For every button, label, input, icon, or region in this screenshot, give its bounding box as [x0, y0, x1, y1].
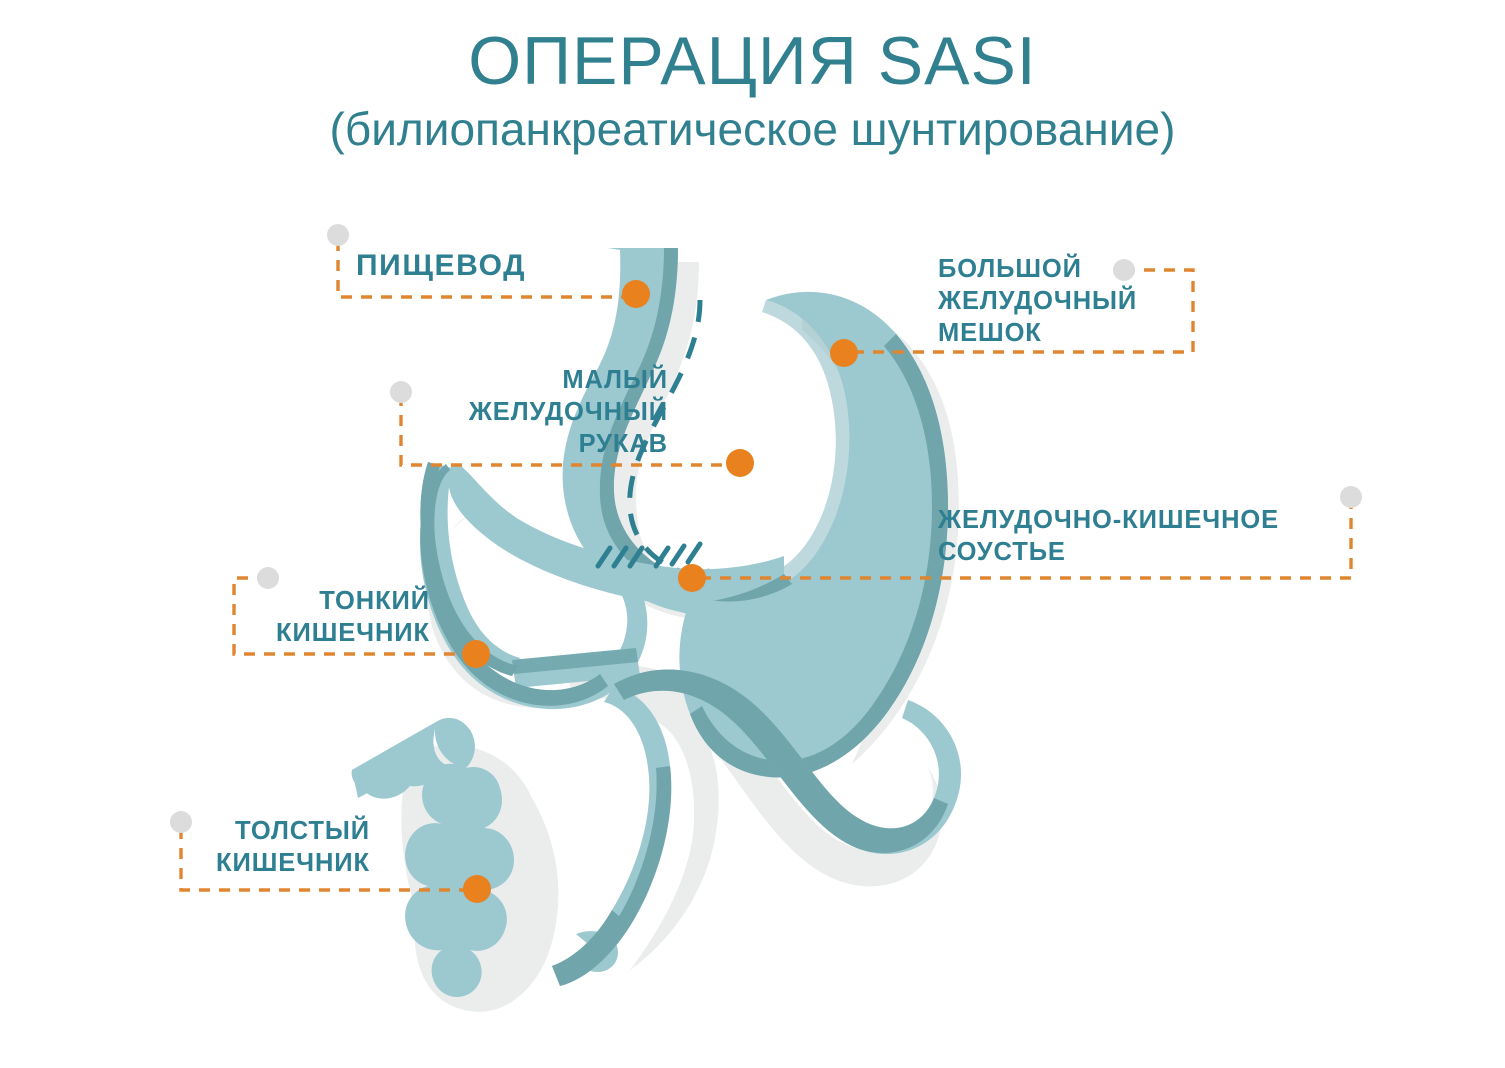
- label-small-intestine: ТОНКИЙ КИШЕЧНИК: [252, 585, 430, 649]
- orange-dot-big-pouch: [830, 339, 858, 367]
- gray-dot-esophagus: [327, 224, 349, 246]
- infographic-page: ОПЕРАЦИЯ SASI (билиопанкреатическое шунт…: [0, 0, 1505, 1068]
- orange-dot-large-bowel: [463, 875, 491, 903]
- label-esophagus: ПИЩЕВОД: [356, 247, 526, 285]
- label-large-intestine: ТОЛСТЫЙ КИШЕЧНИК: [192, 815, 370, 879]
- label-large-gastric-pouch: БОЛЬШОЙ ЖЕЛУДОЧНЫЙ МЕШОК: [938, 253, 1188, 349]
- label-gastro-intestinal-anastomosis: ЖЕЛУДОЧНО-КИШЕЧНОЕ СОУСТЬЕ: [938, 504, 1350, 568]
- orange-dot-gastro-anast: [678, 564, 706, 592]
- orange-dot-small-bowel: [462, 640, 490, 668]
- gray-dot-large-bowel: [170, 811, 192, 833]
- orange-dot-small-sleeve: [726, 449, 754, 477]
- label-small-gastric-sleeve: МАЛЫЙ ЖЕЛУДОЧНЫЙ РУКАВ: [330, 364, 668, 460]
- orange-dot-esophagus: [622, 280, 650, 308]
